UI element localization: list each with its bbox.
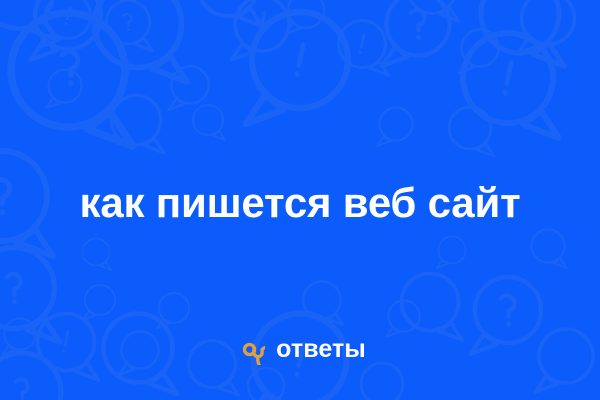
at-sign-icon [234, 334, 265, 365]
brand-lockup[interactable]: ответы [0, 332, 600, 366]
answer-card: как пишется веб сайт ответы [0, 0, 600, 400]
question-title-container: как пишется веб сайт [0, 168, 600, 238]
page-title: как пишется веб сайт [80, 180, 521, 226]
brand-name: ответы [276, 337, 366, 362]
